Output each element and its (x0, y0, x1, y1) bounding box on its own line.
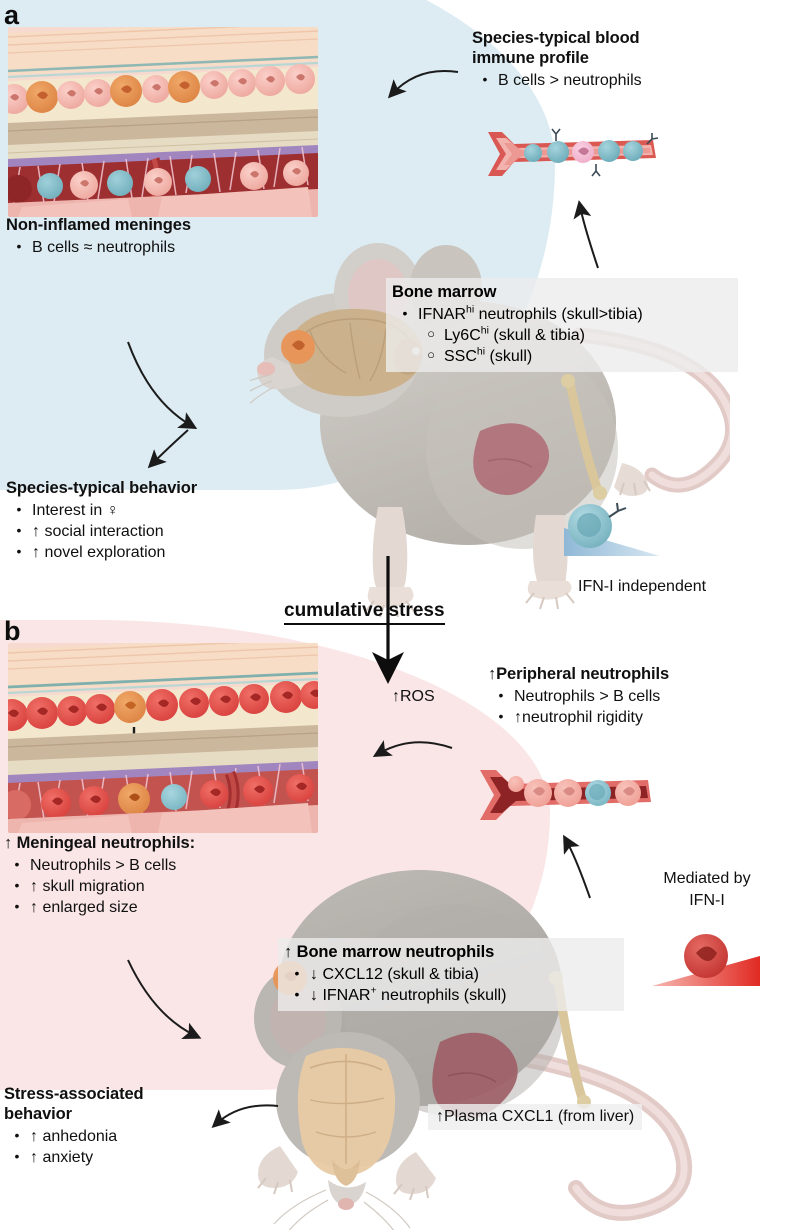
list-item: • ↓ IFNAR+ neutrophils (skull) (284, 985, 616, 1006)
bullet-marker: • (6, 542, 32, 563)
bullet-marker: • (488, 707, 514, 728)
bullet-text: Neutrophils > B cells (514, 686, 660, 707)
bullet-marker: ○ (418, 346, 444, 367)
bullet-marker: • (4, 1147, 30, 1168)
list-item: • ↓ CXCL12 (skull & tibia) (284, 964, 616, 985)
bullet-text-post: neutrophils (skull) (377, 987, 507, 1004)
bullet-text-pre: SSC (444, 348, 477, 365)
meninges-illustration-panel-a (8, 27, 318, 217)
bullet-text: ↑neutrophil rigidity (514, 707, 643, 728)
bullet-text: ↑ enlarged size (30, 897, 138, 918)
blood-heading-line1: Species-typical blood (472, 28, 642, 48)
blood-bullet-list: • B cells > neutrophils (472, 70, 642, 91)
bone-marrow-bullet-list: • IFNARhi neutrophils (skull>tibia) ○ Ly… (392, 304, 730, 367)
bullet-text: ↑ anxiety (30, 1147, 93, 1168)
bullet-text: IFNARhi neutrophils (skull>tibia) (418, 304, 643, 325)
bullet-text: B cells > neutrophils (498, 70, 642, 91)
ifn-independent-label: IFN-I independent (578, 578, 706, 596)
list-item: ○ SSChi (skull) (392, 346, 730, 367)
peripheral-heading: ↑Peripheral neutrophils (488, 664, 669, 684)
list-item: • ↑ novel exploration (6, 542, 197, 563)
bone-marrow-heading: Bone marrow (392, 282, 730, 302)
bullet-marker: • (472, 70, 498, 91)
bullet-superscript: hi (466, 304, 474, 316)
blood-heading-line2: immune profile (472, 48, 642, 68)
bullet-marker: • (488, 686, 514, 707)
bullet-text: ↑ skull migration (30, 876, 145, 897)
bullet-text: Neutrophils > B cells (30, 855, 176, 876)
list-item: • Neutrophils > B cells (4, 855, 195, 876)
panel-b-meningeal-text: ↑ Meningeal neutrophils: • Neutrophils >… (4, 833, 195, 918)
bullet-text: ↓ IFNAR+ neutrophils (skull) (310, 985, 506, 1006)
bullet-marker: ○ (418, 325, 444, 346)
bullet-superscript: hi (481, 325, 489, 337)
bullet-marker: • (392, 304, 418, 325)
list-item: • ↑ enlarged size (4, 897, 195, 918)
bullet-text-pre: Ly6C (444, 327, 481, 344)
list-item: • Interest in ♀ (6, 500, 197, 521)
cumulative-stress-label: cumulative stress (284, 600, 445, 625)
panel-letter-b: b (4, 618, 21, 645)
blood-vessel-illustration-panel-a (478, 118, 663, 223)
list-item: • ↑ anhedonia (4, 1126, 144, 1147)
bullet-text-pre: ↓ CXCL12 (skull & tibia) (310, 966, 479, 983)
list-item: • B cells ≈ neutrophils (6, 237, 191, 258)
ifn-independent-wedge-icon (560, 500, 670, 577)
bullet-marker: • (4, 1126, 30, 1147)
meninges-heading: Non-inflamed meninges (6, 215, 191, 235)
bullet-marker: • (6, 521, 32, 542)
panel-b-peripheral-text: ↑Peripheral neutrophils • Neutrophils > … (488, 664, 669, 728)
list-item: • ↑ anxiety (4, 1147, 144, 1168)
bullet-text-post: (skull) (485, 348, 532, 365)
behavior-heading-line1: Stress-associated (4, 1084, 144, 1104)
panel-a-behavior-text: Species-typical behavior • Interest in ♀… (6, 478, 197, 563)
behavior-heading: Species-typical behavior (6, 478, 197, 498)
mediated-by-ifn-label: Mediated by IFN-I (632, 868, 782, 911)
bullet-marker: • (4, 855, 30, 876)
mediated-line2: IFN-I (632, 890, 782, 912)
panel-a-blood-text: Species-typical blood immune profile • B… (472, 28, 642, 91)
bone-marrow-callout-panel-a: Bone marrow • IFNARhi neutrophils (skull… (386, 278, 738, 372)
list-item: • Neutrophils > B cells (488, 686, 669, 707)
bullet-text: ↑ anhedonia (30, 1126, 117, 1147)
figure-root: a (0, 0, 800, 1230)
bullet-marker: • (6, 500, 32, 521)
bullet-text-post: neutrophils (skull>tibia) (474, 306, 643, 323)
bone-marrow-callout-panel-b: ↑ Bone marrow neutrophils • ↓ CXCL12 (sk… (278, 938, 624, 1011)
meningeal-bullet-list: • Neutrophils > B cells • ↑ skull migrat… (4, 855, 195, 918)
blood-vessel-illustration-panel-b (472, 758, 657, 863)
bullet-marker: • (284, 964, 310, 985)
list-item: • IFNARhi neutrophils (skull>tibia) (392, 304, 730, 325)
mouse-illustration-panel-b (240, 860, 710, 1230)
bullet-marker: • (4, 897, 30, 918)
behavior-heading-line2: behavior (4, 1104, 144, 1124)
meningeal-heading: ↑ Meningeal neutrophils: (4, 833, 195, 853)
peripheral-bullet-list: • Neutrophils > B cells • ↑neutrophil ri… (488, 686, 669, 728)
meninges-illustration-panel-b (8, 643, 318, 833)
bullet-text-pre: IFNAR (418, 306, 466, 323)
bullet-superscript: hi (477, 346, 485, 358)
meninges-bullet-list: • B cells ≈ neutrophils (6, 237, 191, 258)
bullet-text: Interest in ♀ (32, 500, 119, 521)
bullet-marker: • (6, 237, 32, 258)
bone-marrow-heading: ↑ Bone marrow neutrophils (284, 942, 616, 962)
bullet-text: SSChi (skull) (444, 346, 532, 367)
panel-letter-a: a (4, 2, 19, 29)
bullet-text-pre: ↓ IFNAR (310, 987, 370, 1004)
bullet-text: ↓ CXCL12 (skull & tibia) (310, 964, 479, 985)
bullet-text: ↑ novel exploration (32, 542, 165, 563)
list-item: • B cells > neutrophils (472, 70, 642, 91)
bullet-marker: • (4, 876, 30, 897)
bone-marrow-bullet-list: • ↓ CXCL12 (skull & tibia) • ↓ IFNAR+ ne… (284, 964, 616, 1006)
behavior-bullet-list: • ↑ anhedonia • ↑ anxiety (4, 1126, 144, 1168)
panel-b-behavior-text: Stress-associated behavior • ↑ anhedonia… (4, 1084, 144, 1168)
plasma-cxcl1-callout: ↑Plasma CXCL1 (from liver) (428, 1104, 642, 1130)
list-item: • ↑ social interaction (6, 521, 197, 542)
mediated-line1: Mediated by (632, 868, 782, 890)
list-item: ○ Ly6Chi (skull & tibia) (392, 325, 730, 346)
ifn-mediated-wedge-icon (648, 920, 768, 1005)
list-item: • ↑ skull migration (4, 876, 195, 897)
bullet-marker: • (284, 985, 310, 1006)
bullet-text: ↑ social interaction (32, 521, 164, 542)
bullet-text: B cells ≈ neutrophils (32, 237, 175, 258)
ros-label: ↑ROS (392, 688, 435, 706)
list-item: • ↑neutrophil rigidity (488, 707, 669, 728)
behavior-bullet-list: • Interest in ♀ • ↑ social interaction •… (6, 500, 197, 563)
panel-a-meninges-text: Non-inflamed meninges • B cells ≈ neutro… (6, 215, 191, 258)
bullet-text-post: (skull & tibia) (489, 327, 585, 344)
bullet-text: Ly6Chi (skull & tibia) (444, 325, 585, 346)
